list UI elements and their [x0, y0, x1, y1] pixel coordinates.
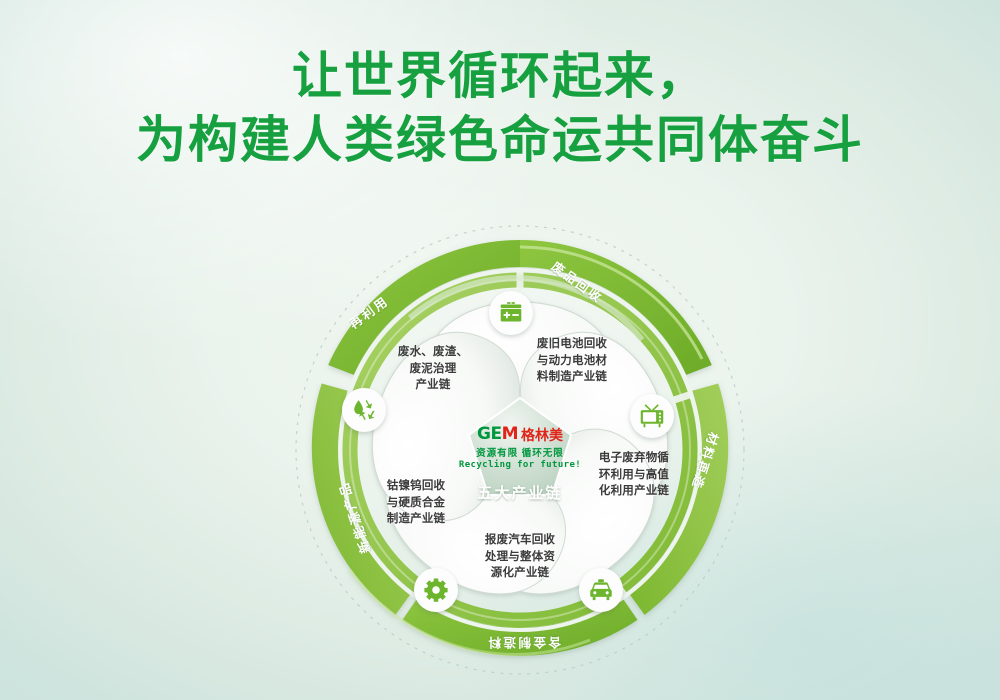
industry-chain-diagram: 废品回收 材料再造 含金制造料 新能源产品 再利用 废旧电池回收 与动力电池材 …	[290, 220, 750, 680]
icon-bubble-vehicle[interactable]	[579, 568, 623, 612]
icon-bubble-water[interactable]	[342, 388, 386, 432]
page-title: 让世界循环起来， 为构建人类绿色命运共同体奋斗	[0, 44, 1000, 172]
headline-line-2: 为构建人类绿色命运共同体奋斗	[0, 108, 1000, 172]
logo-slogan-en: Recycling for future!	[454, 460, 586, 470]
icon-bubble-ewaste[interactable]	[630, 394, 674, 438]
television-icon	[639, 403, 665, 429]
logo-wordmark-row: GEM 格林美	[454, 426, 586, 443]
logo-chinese-name: 格林美	[521, 428, 563, 442]
logo-slogan-cn: 资源有限 循环无限	[454, 445, 586, 459]
battery-icon	[498, 300, 524, 326]
icon-bubble-alloy[interactable]	[414, 568, 458, 612]
center-subtitle: 五大产业链	[454, 482, 586, 503]
segment-label-water: 废水、废渣、 废泥治理 产业链	[372, 344, 494, 394]
car-icon	[588, 577, 614, 603]
water-recycle-icon	[351, 397, 377, 423]
segment-label-ewaste: 电子废弃物循 环利用与高值 化利用产业链	[582, 450, 686, 500]
gem-logo: GEM 格林美 资源有限 循环无限 Recycling for future!	[454, 426, 586, 470]
segment-label-vehicle: 报废汽车回收 处理与整体资 源化产业链	[462, 532, 578, 582]
gear-icon	[423, 577, 449, 603]
ring-label-bottom: 含金制造料	[486, 634, 561, 653]
icon-bubble-battery[interactable]	[489, 291, 533, 335]
segment-label-battery: 废旧电池回收 与动力电池材 料制造产业链	[512, 336, 632, 386]
segment-label-alloy: 钴镍钨回收 与硬质合金 制造产业链	[364, 478, 468, 528]
infographic-page: 让世界循环起来， 为构建人类绿色命运共同体奋斗	[0, 0, 1000, 700]
headline-line-1: 让世界循环起来，	[0, 44, 1000, 108]
logo-latin: GEM	[477, 426, 518, 443]
